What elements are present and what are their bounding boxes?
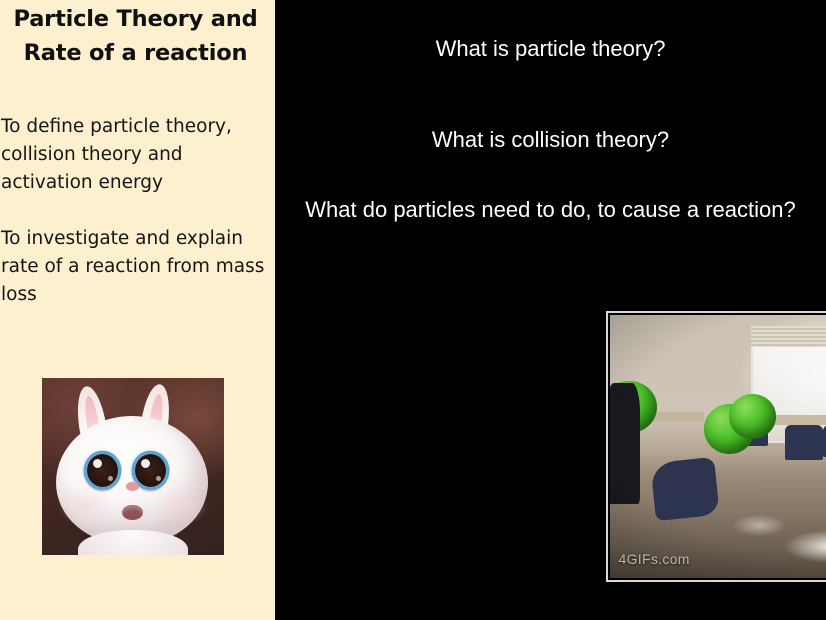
question-item-2: What is collision theory? bbox=[295, 124, 806, 155]
rabbit-iris-left bbox=[87, 454, 118, 487]
presentation-slide: Particle Theory and Rate of a reaction T… bbox=[0, 0, 826, 620]
question-item-3: What do particles need to do, to cause a… bbox=[295, 194, 806, 225]
left-content-panel: Particle Theory and Rate of a reaction T… bbox=[0, 0, 273, 620]
page-title-line-1: Particle Theory and bbox=[0, 2, 271, 36]
rabbit-eye-glint-left-a bbox=[93, 459, 102, 468]
rabbit-eye-left bbox=[82, 448, 122, 492]
question-item-1: What is particle theory? bbox=[295, 33, 806, 64]
rabbit-iris-right bbox=[135, 454, 166, 487]
rabbit-cheek-right bbox=[154, 486, 208, 526]
snowball-rabbit-image bbox=[42, 378, 224, 555]
objectives-spacer bbox=[1, 197, 269, 225]
rabbit-eye-glint-right-b bbox=[156, 476, 161, 481]
objective-item-1: To define particle theory, collision the… bbox=[1, 113, 269, 197]
right-content-panel: What is particle theory? What is collisi… bbox=[275, 0, 826, 620]
gif-watermark: 4GIFs.com bbox=[619, 551, 690, 567]
objective-item-2: To investigate and explain rate of a rea… bbox=[1, 225, 269, 309]
learning-objectives: To define particle theory, collision the… bbox=[1, 113, 269, 309]
image-grain bbox=[610, 315, 826, 578]
classroom-gif-image: 4GIFs.com bbox=[610, 315, 826, 578]
rabbit-eye-glint-right-a bbox=[141, 459, 150, 468]
classroom-gif-frame[interactable]: 4GIFs.com bbox=[606, 311, 826, 582]
page-title: Particle Theory and Rate of a reaction bbox=[0, 2, 271, 70]
rabbit-eye-glint-left-b bbox=[108, 476, 113, 481]
page-title-line-2: Rate of a reaction bbox=[0, 36, 271, 70]
rabbit-cheek-left bbox=[58, 486, 112, 526]
rabbit-nose bbox=[126, 482, 139, 491]
rabbit-mouth bbox=[122, 505, 143, 520]
